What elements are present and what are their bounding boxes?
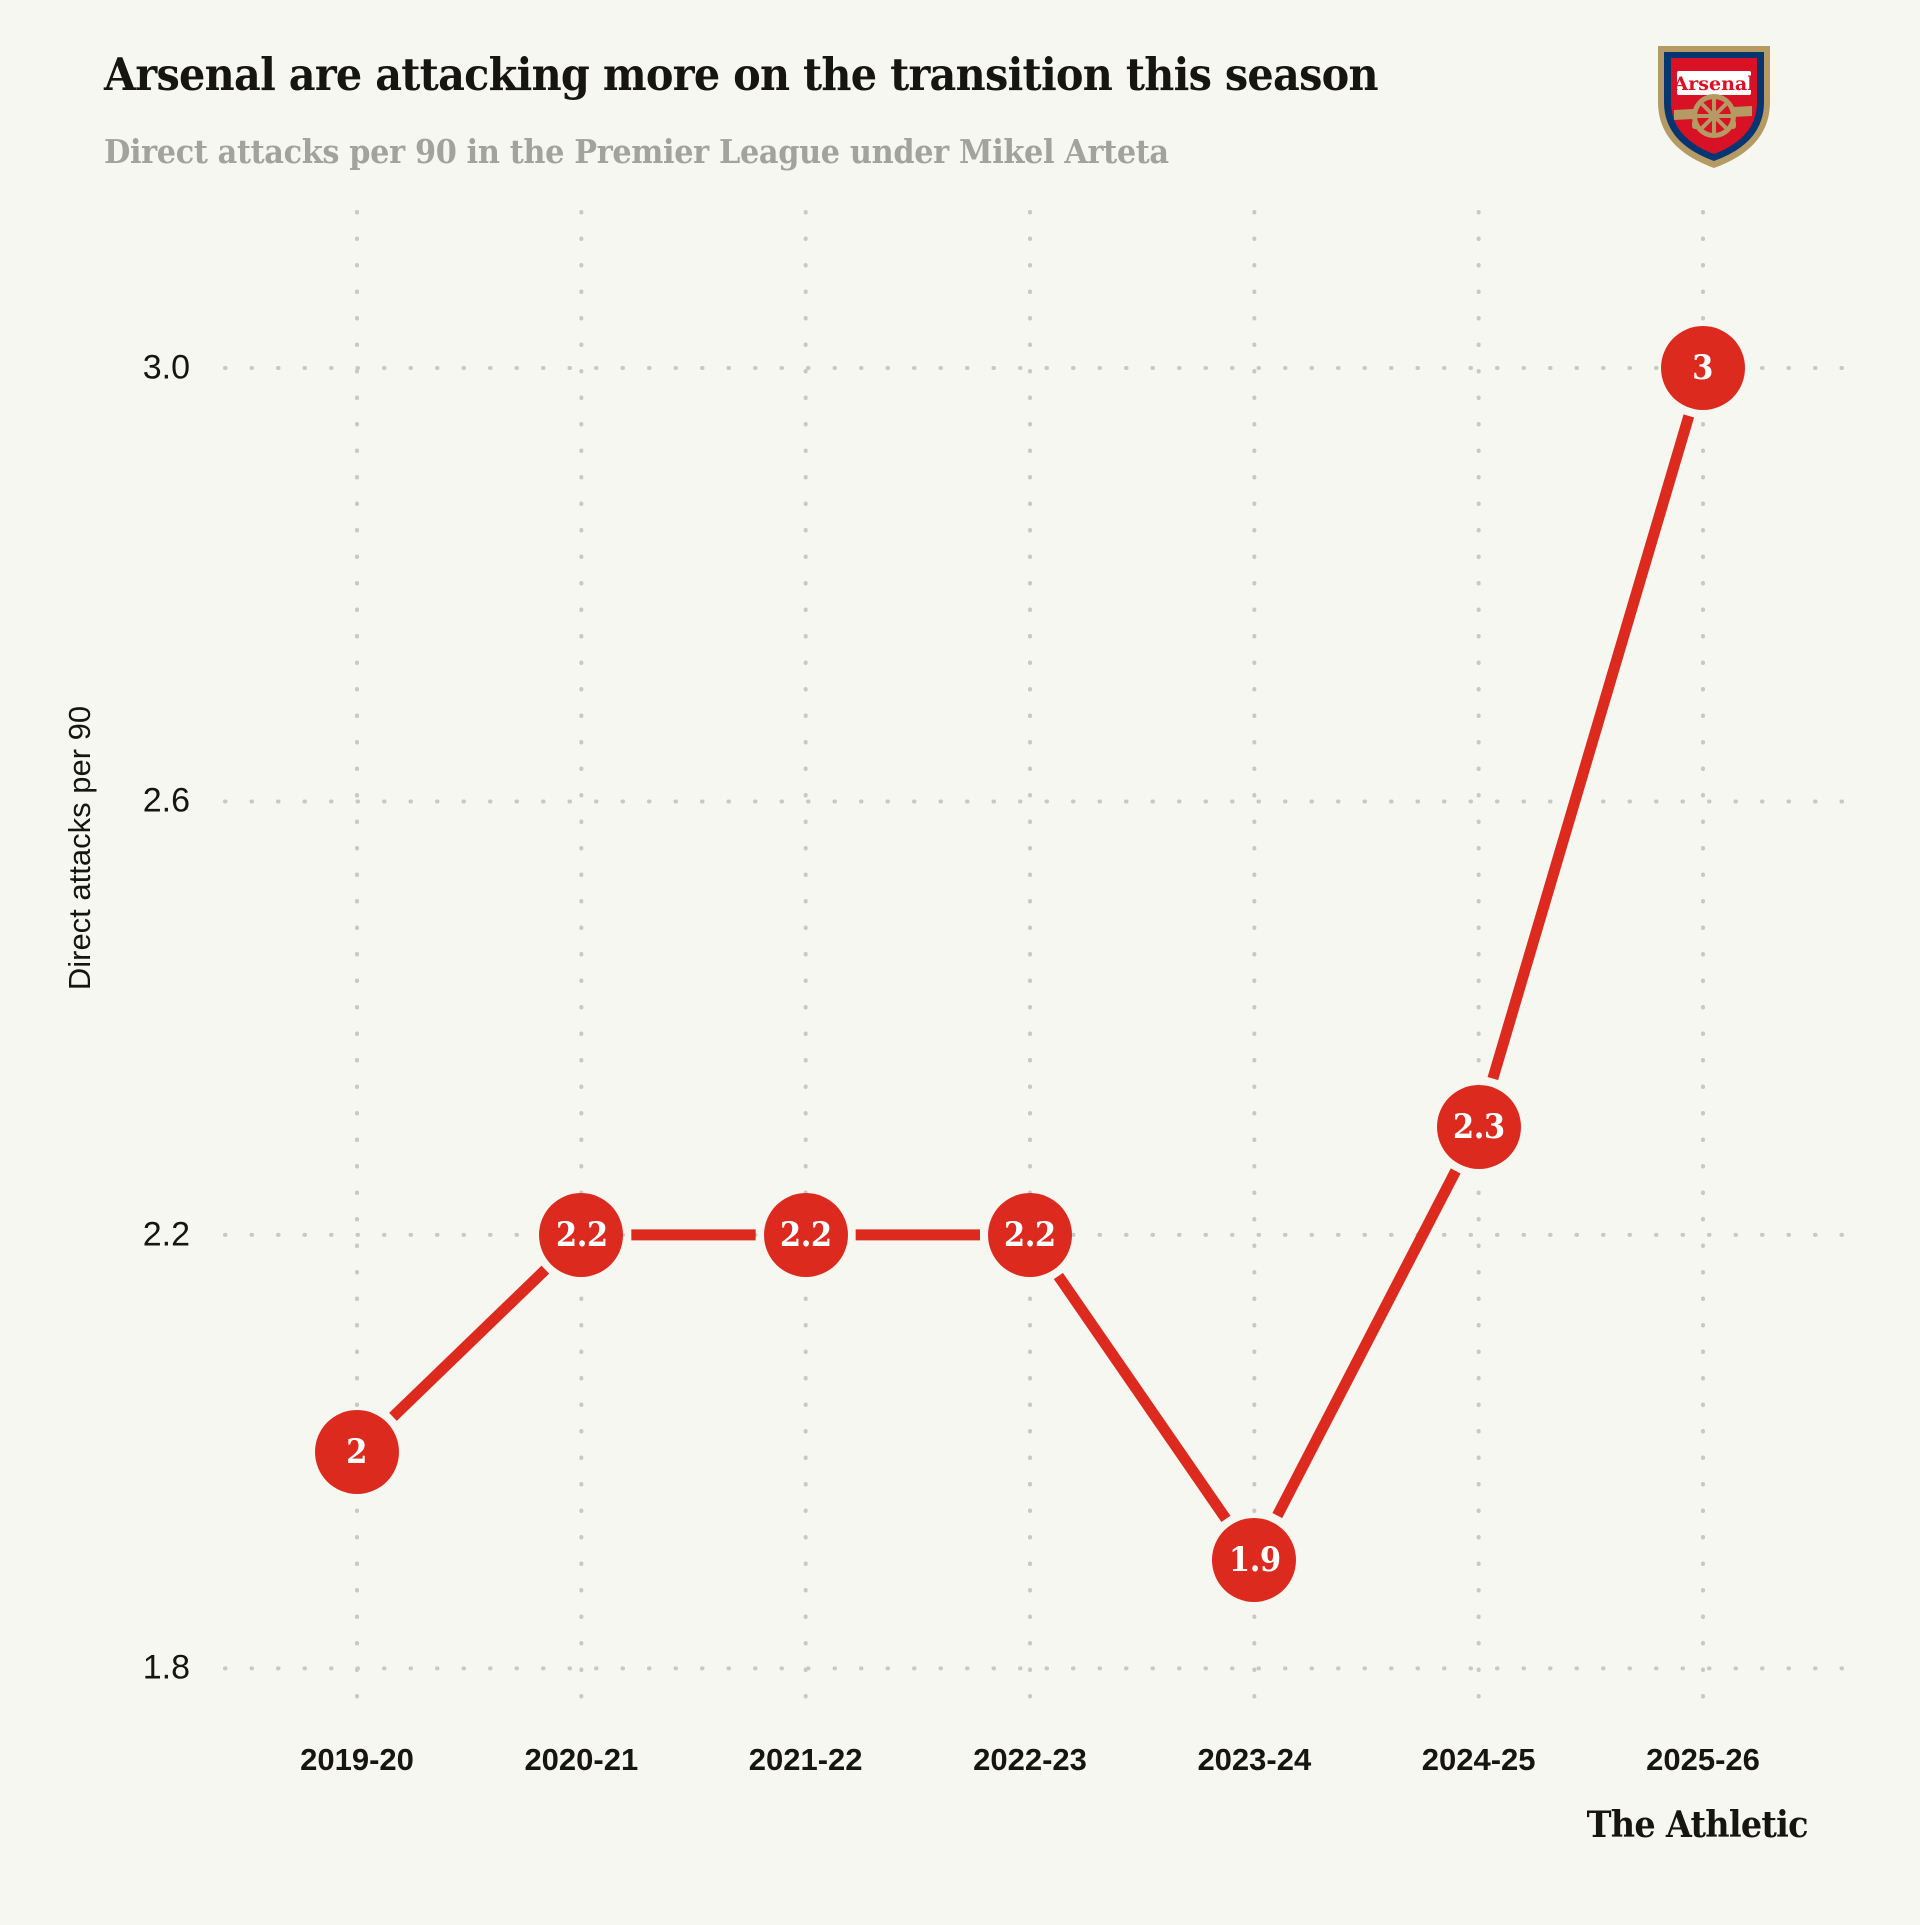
data-point-value-label: 1.9 [1228,1540,1280,1580]
x-axis-tick-label: 2022-23 [900,1742,1160,1778]
data-point-marker[interactable]: 2.2 [539,1193,623,1277]
data-point-marker[interactable]: 2.2 [988,1193,1072,1277]
data-point-marker[interactable]: 1.9 [1212,1518,1296,1602]
line-segment [1058,1276,1226,1519]
data-point-value-label: 2 [347,1432,368,1472]
data-point-marker[interactable]: 3 [1661,326,1745,410]
y-axis-tick-label: 1.8 [70,1649,190,1688]
data-point-value-label: 2.2 [780,1215,832,1255]
y-axis-tick-label: 3.0 [70,349,190,388]
data-point-marker[interactable]: 2.2 [764,1193,848,1277]
x-axis-tick-label: 2025-26 [1573,1742,1833,1778]
x-axis-tick-label: 2021-22 [676,1742,936,1778]
data-point-value-label: 2.2 [1004,1215,1056,1255]
line-chart: 1.82.22.63.0Direct attacks per 902019-20… [0,0,1920,1920]
y-axis-tick-label: 2.2 [70,1215,190,1254]
x-axis-tick-label: 2023-24 [1124,1742,1384,1778]
y-axis-title: Direct attacks per 90 [62,688,98,1008]
line-segment [393,1270,545,1417]
line-segment [1493,416,1689,1079]
data-point-value-label: 2.2 [555,1215,607,1255]
chart-canvas [0,0,1920,1920]
data-point-marker[interactable]: 2.3 [1437,1085,1521,1169]
data-point-value-label: 2.3 [1453,1107,1505,1147]
data-point-marker[interactable]: 2 [315,1410,399,1494]
the-athletic-logo: The Athletic [1587,1804,1808,1846]
x-axis-tick-label: 2024-25 [1349,1742,1609,1778]
x-axis-tick-label: 2020-21 [451,1742,711,1778]
x-axis-tick-label: 2019-20 [227,1742,487,1778]
line-segment [1277,1171,1455,1516]
data-point-value-label: 3 [1693,348,1714,388]
